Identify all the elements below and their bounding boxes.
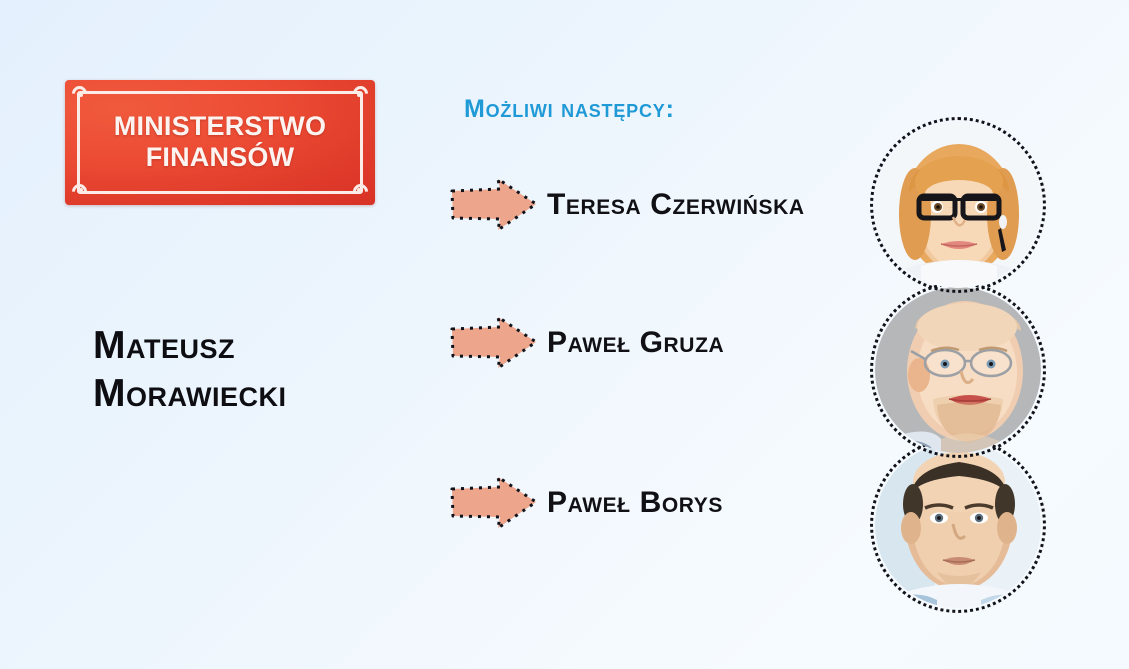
arrow-right-icon <box>448 472 540 534</box>
successor-portrait-3 <box>875 442 1041 608</box>
plaque-corner-bottom-right <box>350 181 371 202</box>
main-person-name: Mateusz Morawiecki <box>93 322 413 417</box>
portrait-photo <box>875 287 1041 453</box>
portrait-photo <box>875 442 1041 608</box>
ministry-plaque: MINISTERSTWO FINANSÓW <box>65 80 375 205</box>
plaque-label: MINISTERSTWO FINANSÓW <box>65 111 375 175</box>
plaque-screw-bottom-left <box>79 188 83 192</box>
successor-portrait-1 <box>875 122 1041 288</box>
portrait-photo <box>875 122 1041 288</box>
infographic-canvas: MINISTERSTWO FINANSÓW Mateusz Morawiecki… <box>0 0 1129 669</box>
successor-portrait-2 <box>875 287 1041 453</box>
successor-name: Paweł Borys <box>547 486 723 520</box>
successors-heading: Możliwi następcy: <box>464 95 675 124</box>
arrow-right-icon <box>448 312 540 374</box>
plaque-screw-top-left <box>79 93 83 97</box>
plaque-screw-bottom-right <box>357 188 361 192</box>
plaque-screw-top-right <box>357 93 361 97</box>
successor-name: Teresa Czerwińska <box>547 188 805 222</box>
successor-name: Paweł Gruza <box>547 326 724 360</box>
arrow-right-icon <box>448 174 540 236</box>
